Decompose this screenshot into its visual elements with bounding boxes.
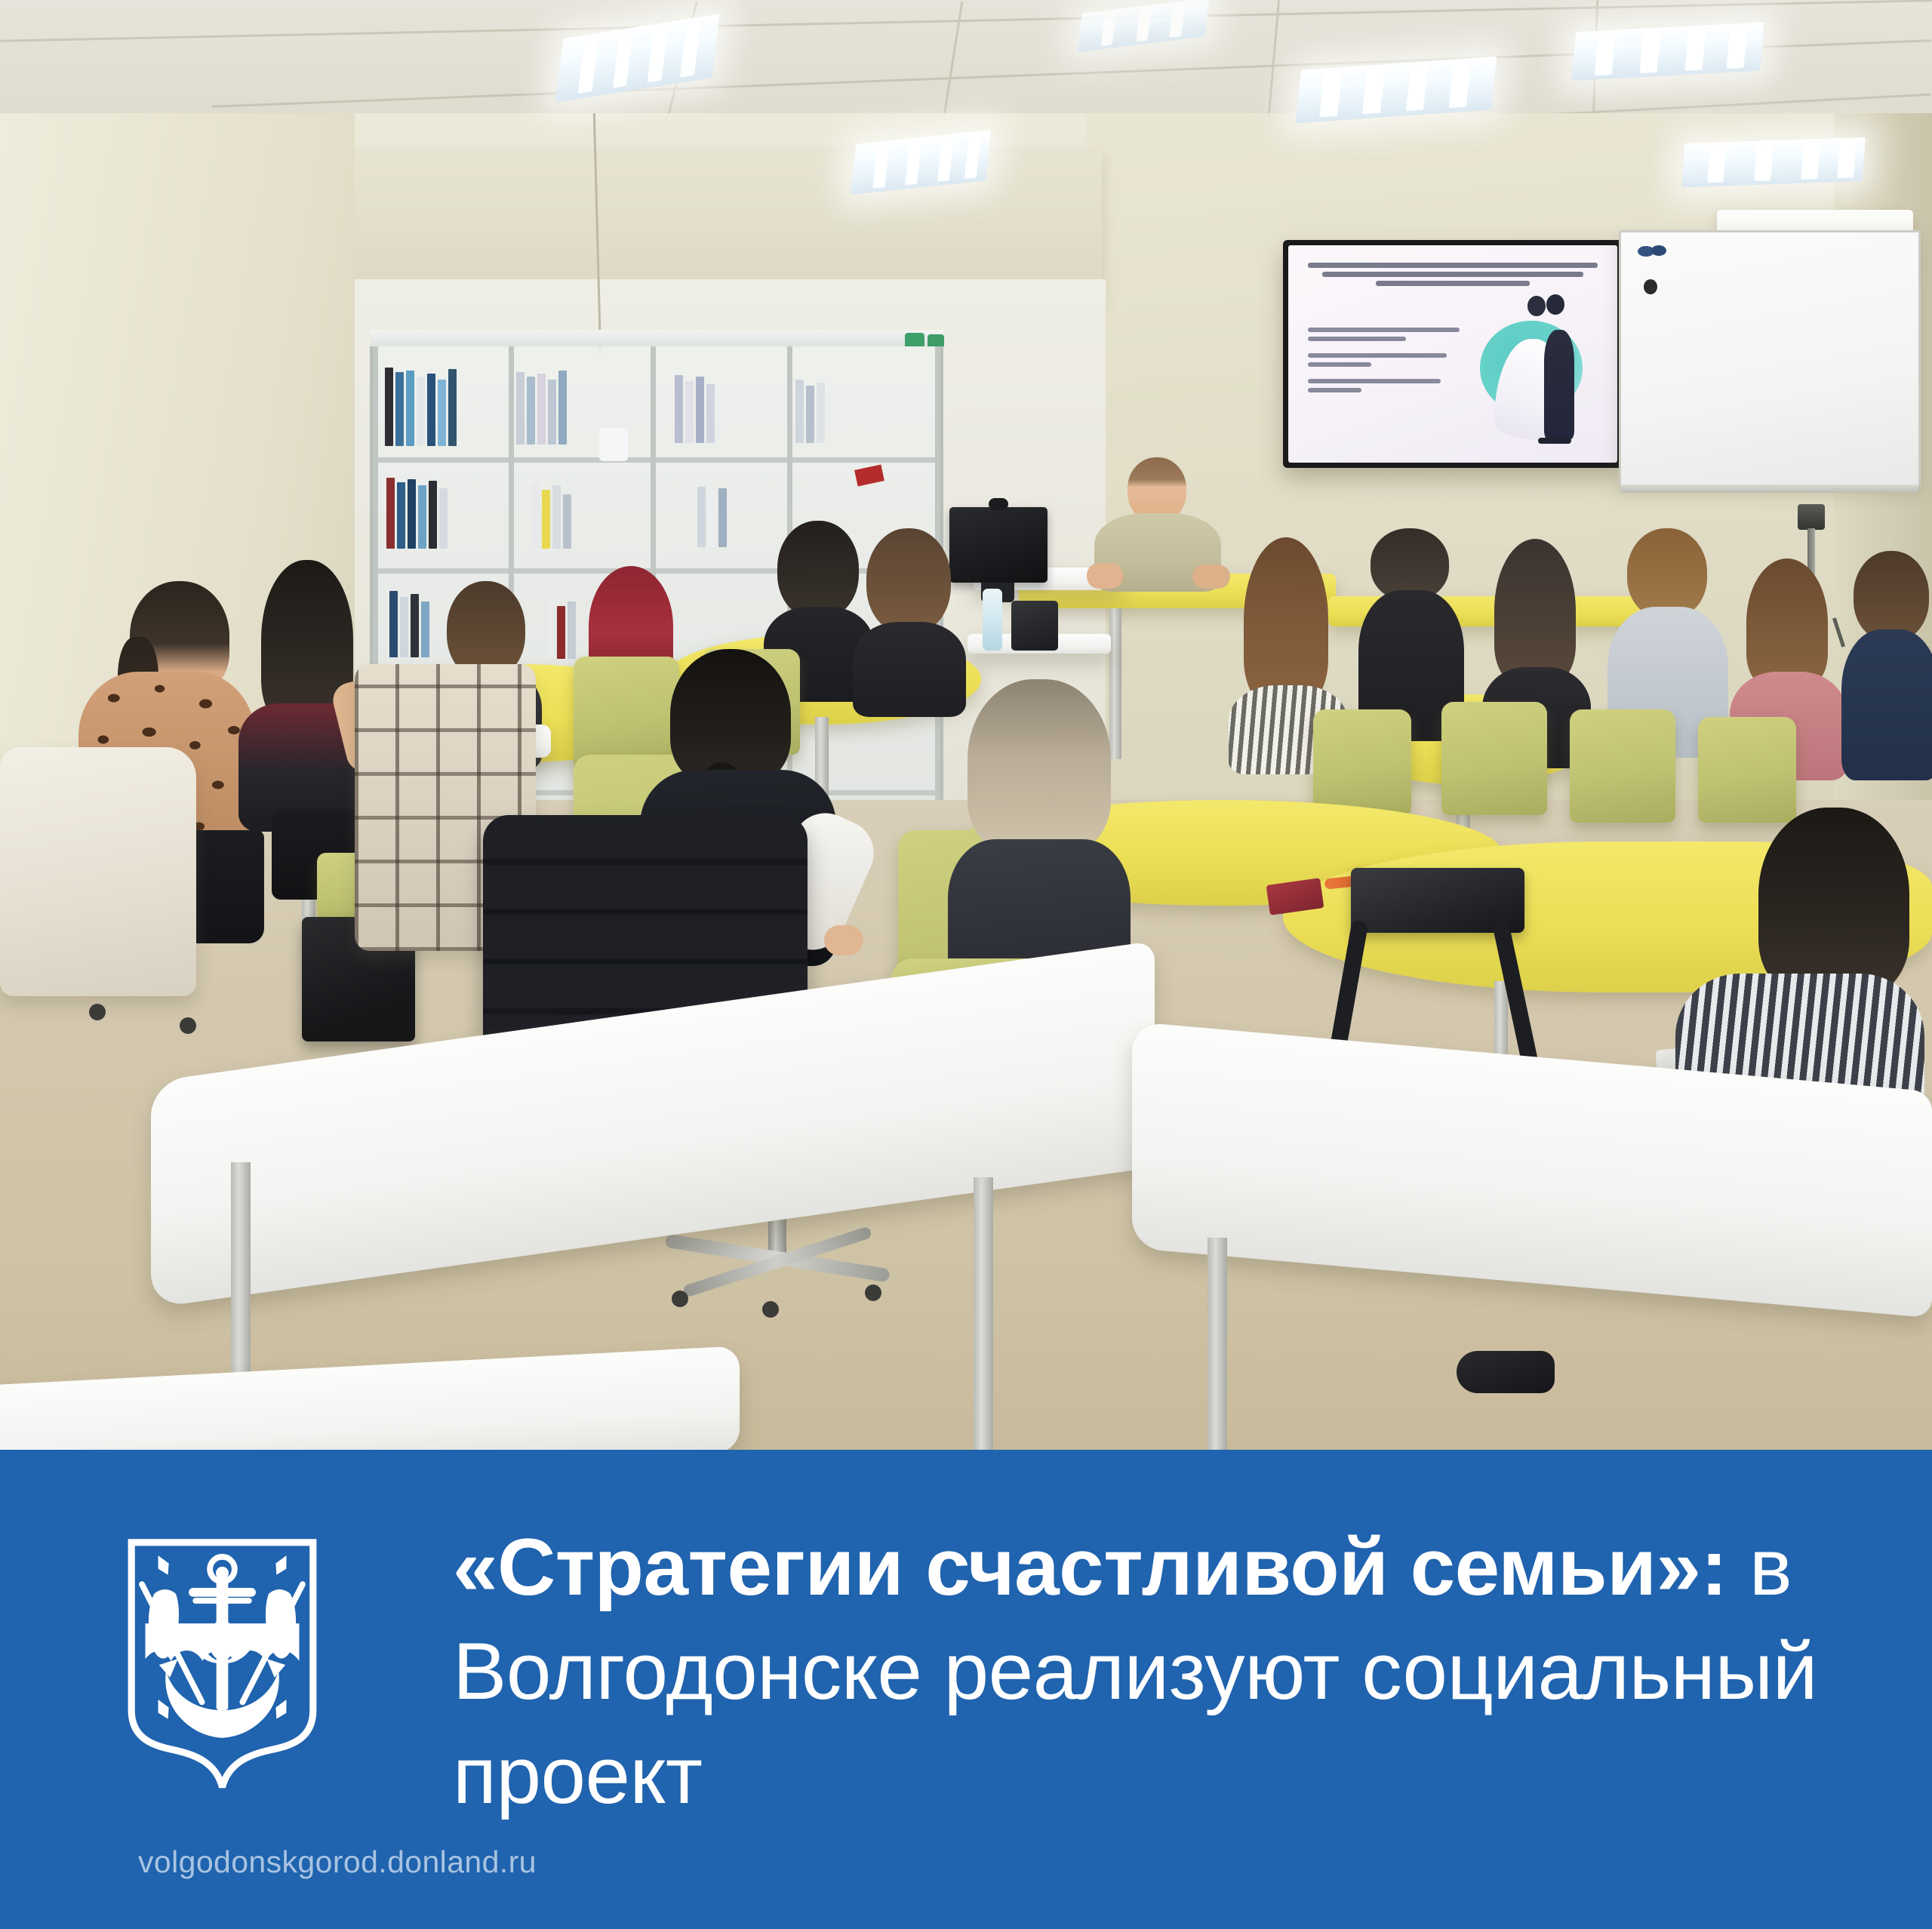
hair: [777, 521, 859, 619]
hair: [968, 679, 1111, 853]
table-leg: [974, 1177, 993, 1450]
coat-of-arms-of-volgodonsk-icon: [123, 1537, 321, 1793]
page-title-bold: «Стратегии счастливой семьи»:: [453, 1521, 1727, 1612]
chair-with-white-coat: [0, 747, 196, 996]
magnet: [1644, 279, 1657, 294]
camera-on-tripod: [1798, 504, 1825, 530]
hair: [1854, 551, 1929, 641]
shelf-decor: [854, 464, 884, 486]
table-leg: [1207, 1238, 1227, 1450]
shelf-decor: [928, 334, 944, 346]
event-photograph: [0, 0, 1932, 1450]
audience-member: [1841, 551, 1932, 777]
books-row: [795, 377, 825, 443]
magnet: [1651, 245, 1666, 256]
books-row: [531, 481, 571, 549]
books-row: [385, 365, 457, 446]
site-url: volgodonskgorod.donland.ru: [138, 1844, 537, 1880]
shelf-decor: [905, 333, 924, 346]
whiteboard: [1619, 230, 1921, 487]
books-row: [697, 484, 727, 547]
news-card: «Стратегии счастливой семьи»: в Волгодон…: [0, 0, 1932, 1929]
slide-title-lines: [1305, 263, 1601, 286]
water-bottle: [983, 589, 1002, 651]
hair: [1758, 808, 1909, 996]
chair-caster: [89, 1004, 106, 1020]
torso: [1841, 629, 1932, 780]
speaker: [1087, 457, 1230, 590]
books-row: [516, 369, 567, 445]
page-title: «Стратегии счастливой семьи»: в Волгодон…: [453, 1515, 1857, 1827]
books-row: [389, 588, 429, 657]
hand: [824, 925, 863, 955]
books-row: [675, 372, 715, 443]
hair: [1494, 539, 1576, 682]
whiteboard-tray: [1621, 485, 1918, 493]
chair: [1570, 709, 1675, 823]
slide-content: [1288, 245, 1617, 463]
shoe: [1457, 1351, 1555, 1393]
hair: [1746, 558, 1828, 687]
slide-bullet-lines: [1308, 328, 1466, 392]
hair: [1627, 528, 1707, 619]
books-row: [546, 595, 576, 659]
slide-illustration-wedding-couple: [1469, 293, 1607, 445]
chair: [1441, 702, 1547, 815]
webcam: [989, 498, 1008, 510]
chair-caster: [180, 1017, 196, 1034]
speaker-hand: [1087, 563, 1123, 589]
presentation-screen: [1283, 240, 1623, 468]
books-row: [386, 475, 448, 549]
title-banner: «Стратегии счастливой семьи»: в Волгодон…: [0, 1450, 1932, 1929]
hair: [1244, 537, 1328, 703]
hair: [866, 528, 951, 634]
chair: [1698, 717, 1796, 823]
projector-device: [1011, 601, 1058, 651]
ceiling-light: [1571, 22, 1764, 80]
shelf-decor: [599, 428, 628, 461]
chair: [1313, 709, 1411, 815]
ceiling-light: [1681, 137, 1866, 188]
